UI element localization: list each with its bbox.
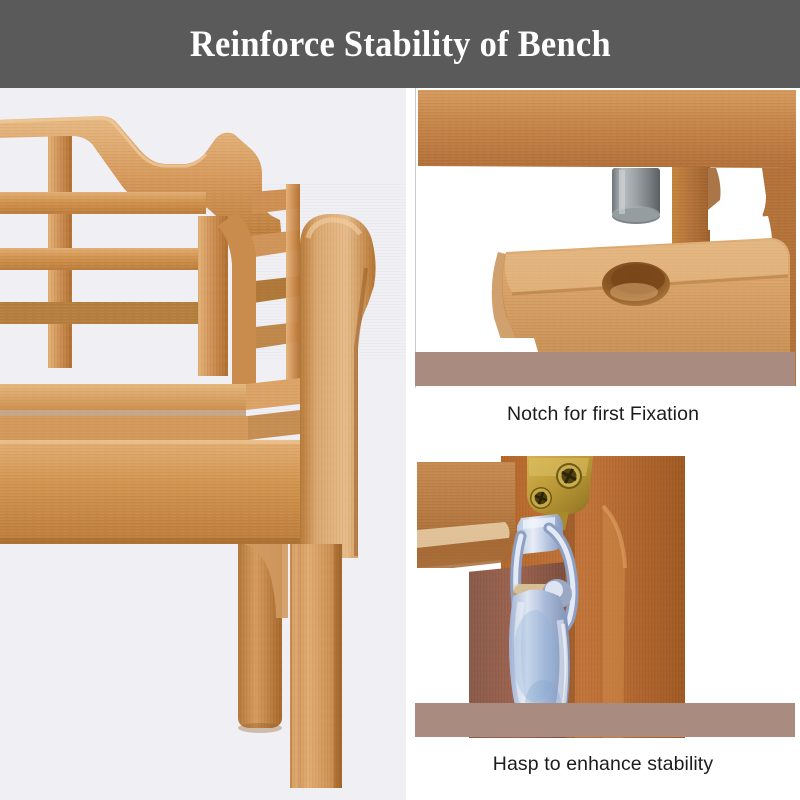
bench-photo-panel bbox=[0, 88, 406, 800]
header-banner: Reinforce Stability of Bench bbox=[0, 0, 800, 88]
notch-detail-photo bbox=[416, 88, 796, 386]
hasp-detail-photo bbox=[417, 456, 685, 738]
page-title: Reinforce Stability of Bench bbox=[189, 26, 610, 63]
bench-corner-photo bbox=[0, 88, 406, 800]
caption-hasp: Hasp to enhance stability bbox=[406, 753, 800, 776]
accent-band-hasp bbox=[415, 703, 795, 737]
phillips-screw-lower bbox=[530, 487, 552, 509]
caption-notch: Notch for first Fixation bbox=[406, 403, 800, 426]
detail-cell-notch: Notch for first Fixation bbox=[406, 88, 800, 440]
bench-arm-board bbox=[417, 462, 515, 572]
hasp-latch bbox=[509, 514, 573, 732]
bench-seat-slats bbox=[0, 378, 300, 442]
accent-band-notch bbox=[415, 352, 795, 386]
notch-hole bbox=[602, 262, 670, 306]
detail-cell-hasp: Hasp to enhance stability bbox=[406, 448, 800, 800]
detail-cells-column: Notch for first Fixation bbox=[406, 88, 800, 800]
bench-back-slats-left bbox=[0, 192, 206, 324]
phillips-screw-upper bbox=[556, 463, 582, 489]
metal-dowel-pin bbox=[612, 168, 660, 224]
product-feature-image: Reinforce Stability of Bench bbox=[0, 0, 800, 800]
